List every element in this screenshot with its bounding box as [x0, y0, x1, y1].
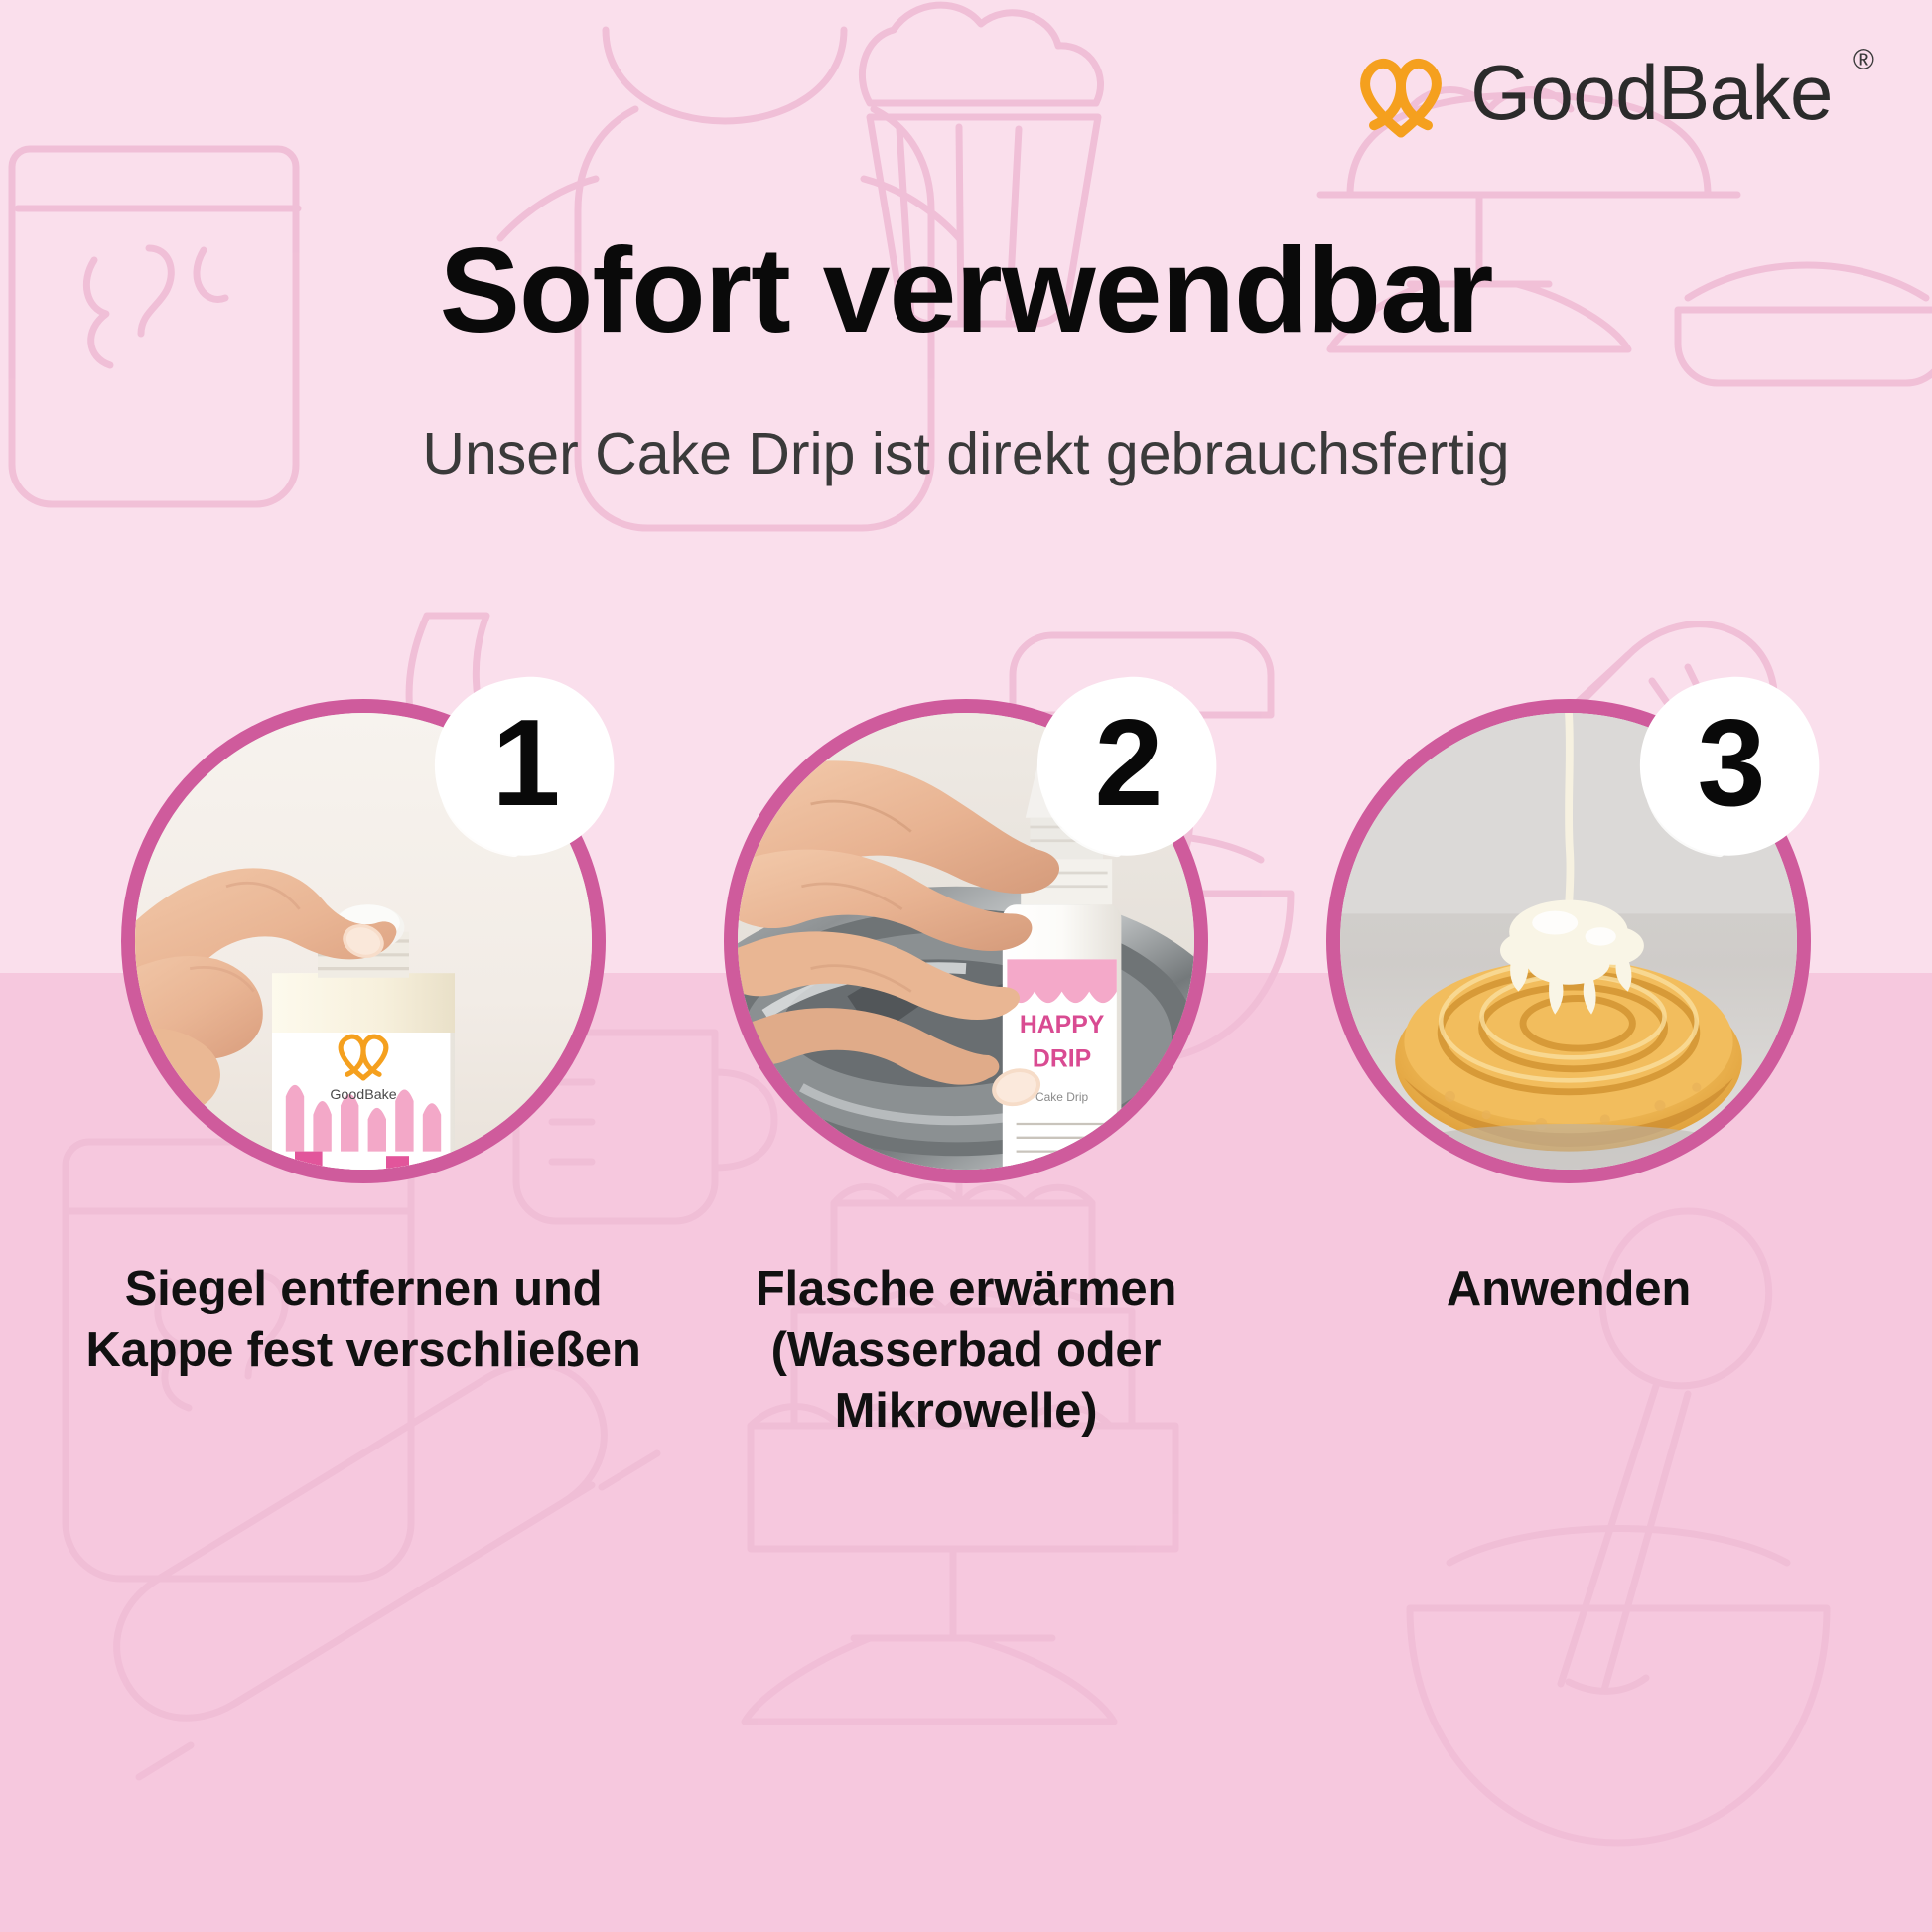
registered-mark: ®: [1853, 44, 1874, 77]
page-title: Sofort verwendbar: [0, 226, 1932, 353]
brand-logo[interactable]: GoodBake ®: [1347, 38, 1874, 147]
step-number-3: 3: [1634, 669, 1829, 864]
step-number-2: 2: [1032, 669, 1226, 864]
step-card-1: GoodBake: [95, 685, 631, 1443]
steps-row: GoodBake: [0, 685, 1932, 1443]
step-caption-line1: Siegel entfernen und: [125, 1262, 603, 1315]
step-caption-2: Flasche erwärmen (Wasserbad oder Mikrowe…: [688, 1259, 1244, 1443]
step-caption-line1: Flasche erwärmen: [756, 1262, 1176, 1315]
goodbake-pretzel-heart-logo-icon: [1347, 43, 1454, 142]
step-badge-2: 2: [1032, 669, 1226, 864]
step-badge-3: 3: [1634, 669, 1829, 864]
step-card-2: HAPPY DRIP Cake Drip: [698, 685, 1234, 1443]
step-number-1: 1: [429, 669, 623, 864]
step-caption-line2: (Wasserbad oder Mikrowelle): [688, 1320, 1244, 1443]
svg-text:DRIP: DRIP: [1033, 1046, 1091, 1073]
step-caption-3: Anwenden: [1291, 1259, 1847, 1320]
step-photo-holder-2: HAPPY DRIP Cake Drip: [710, 685, 1222, 1197]
step-badge-1: 1: [429, 669, 623, 864]
step-caption-line2: Kappe fest verschließen: [85, 1320, 641, 1382]
step-photo-holder-3: 3: [1312, 685, 1825, 1197]
page-subtitle: Unser Cake Drip ist direkt gebrauchsfert…: [0, 422, 1932, 486]
step-caption-line1: Anwenden: [1447, 1262, 1691, 1315]
step-card-3: 3 Anwenden: [1301, 685, 1837, 1443]
step-caption-1: Siegel entfernen und Kappe fest verschli…: [85, 1259, 641, 1381]
infographic-canvas: GoodBake ® Sofort verwendbar Unser Cake …: [0, 0, 1932, 1932]
step-photo-holder-1: GoodBake: [107, 685, 620, 1197]
svg-text:HAPPY: HAPPY: [1020, 1012, 1105, 1038]
brand-name: GoodBake: [1470, 54, 1833, 131]
svg-text:Cake Drip: Cake Drip: [1035, 1090, 1088, 1104]
svg-text:GoodBake: GoodBake: [330, 1087, 396, 1103]
